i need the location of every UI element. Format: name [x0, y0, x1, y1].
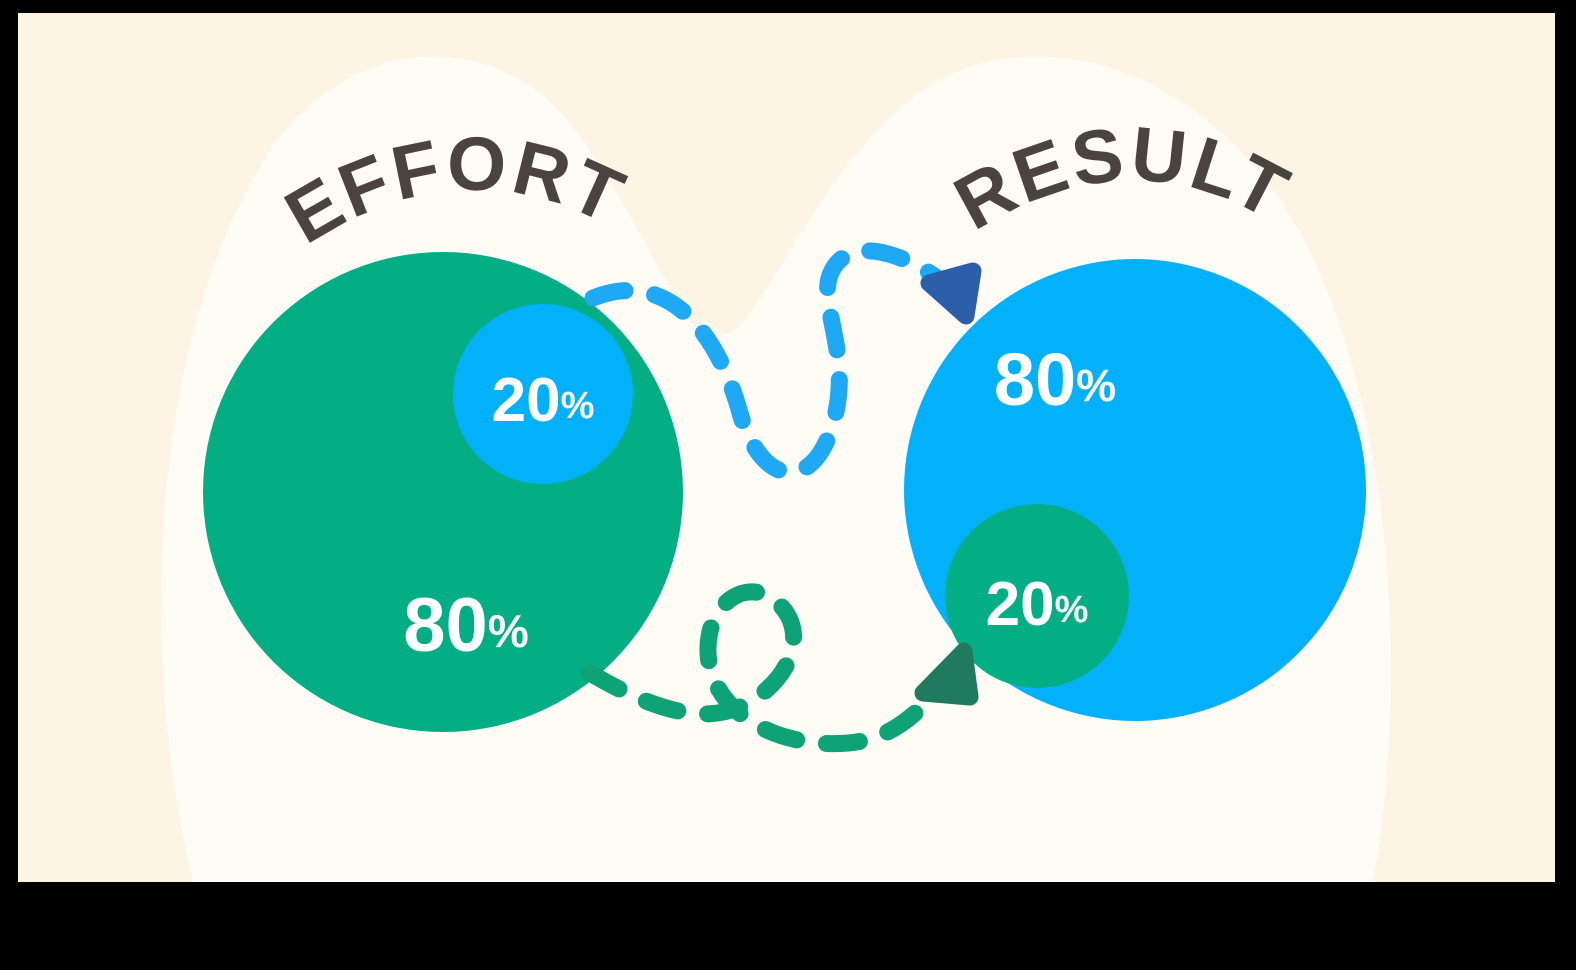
letterbox-top	[0, 0, 1576, 13]
result-20-value: 20	[986, 570, 1055, 639]
infographic-artwork: EFFORT RESULT 80% 20%	[18, 13, 1555, 882]
letterbox-left	[0, 0, 18, 970]
screenshot-root: EFFORT RESULT 80% 20%	[0, 0, 1576, 970]
effort-bubble-group: 80% 20%	[203, 252, 683, 732]
effort-80-unit: %	[488, 605, 529, 657]
result-80-unit: %	[1076, 360, 1116, 411]
infographic-canvas: EFFORT RESULT 80% 20%	[18, 13, 1555, 882]
effort-20-unit: %	[561, 385, 595, 427]
effort-80-value: 80	[403, 583, 488, 668]
letterbox-right	[1555, 0, 1576, 970]
letterbox-bottom	[0, 882, 1576, 970]
result-bubble-group: 80% 20%	[904, 259, 1366, 721]
result-80-value: 80	[994, 338, 1076, 421]
result-20-unit: %	[1055, 589, 1089, 631]
effort-20-value: 20	[492, 366, 561, 435]
